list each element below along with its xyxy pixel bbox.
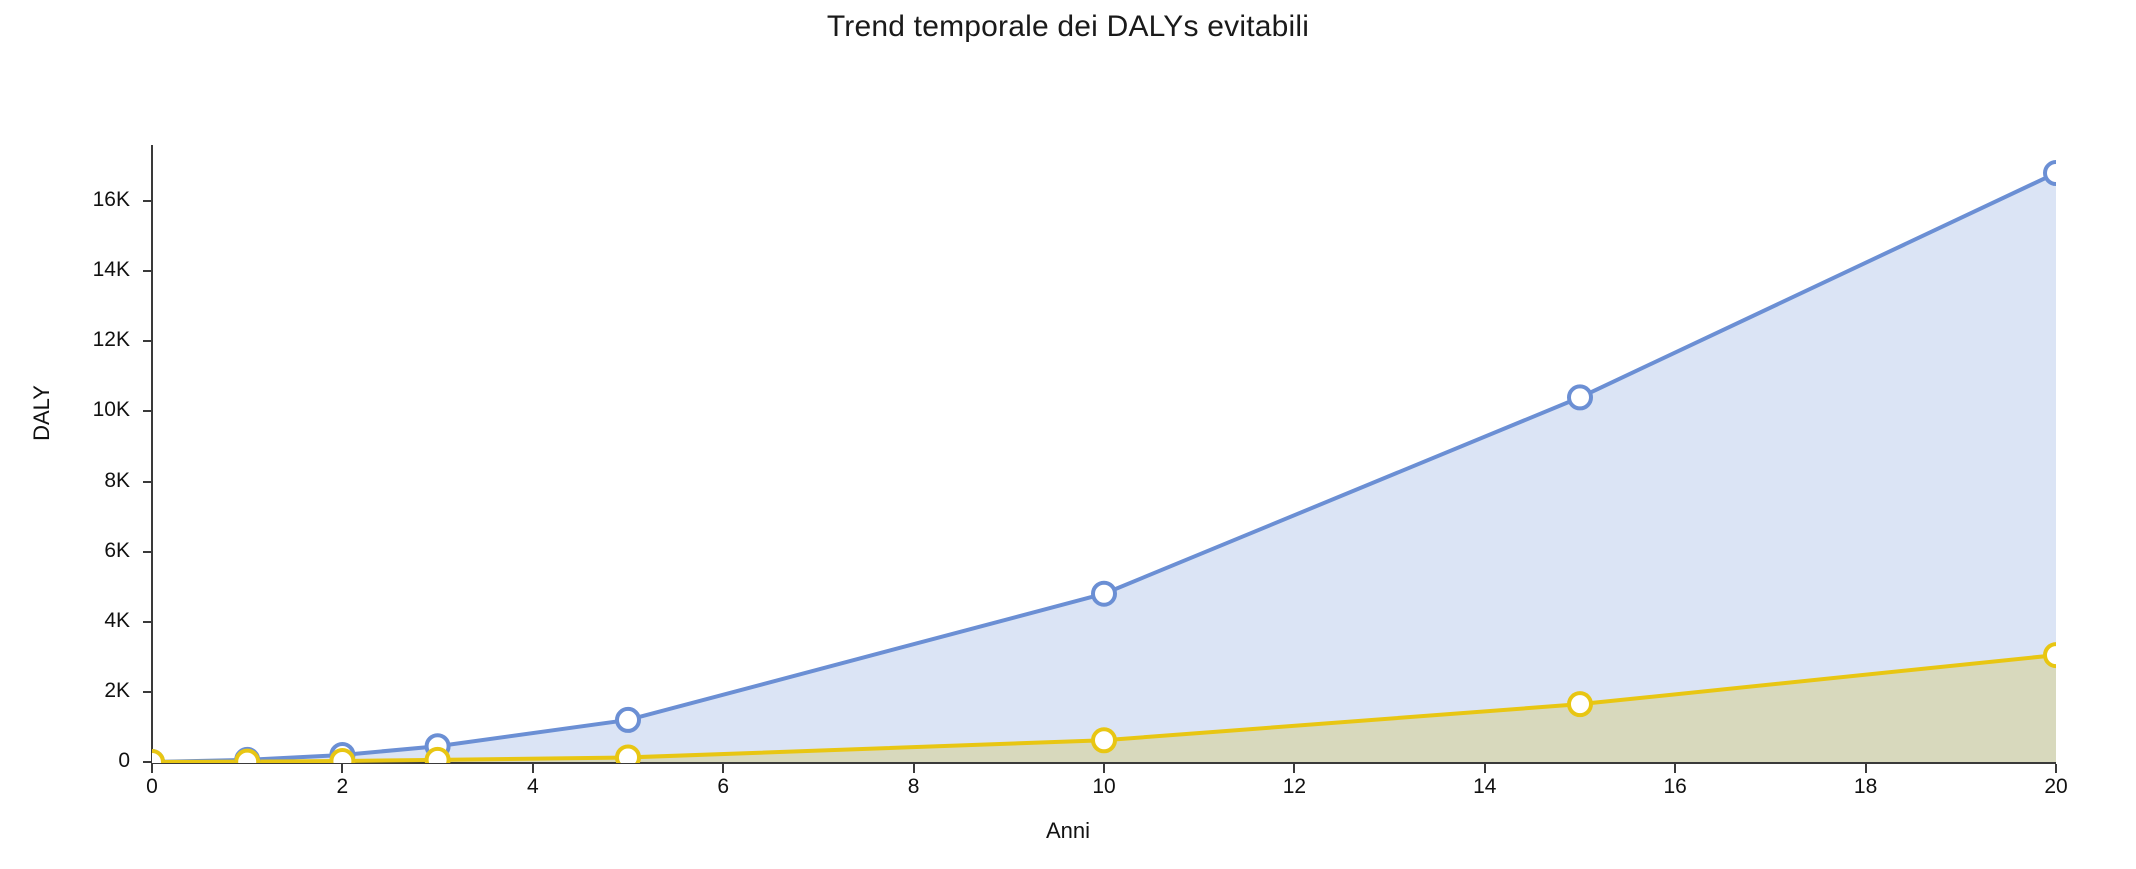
area-fills — [152, 173, 2056, 762]
x-tick-mark — [913, 764, 915, 773]
data-point-marker[interactable] — [617, 709, 639, 731]
x-tick-mark — [341, 764, 343, 773]
x-tick-mark — [1293, 764, 1295, 773]
data-point-marker[interactable] — [617, 746, 639, 763]
x-tick-mark — [1103, 764, 1105, 773]
x-tick-mark — [1865, 764, 1867, 773]
x-tick-label: 20 — [2016, 775, 2096, 799]
y-tick-mark — [143, 200, 152, 202]
y-tick-label: 16K — [50, 188, 130, 212]
area-fill — [152, 173, 2056, 762]
x-tick-label: 2 — [302, 775, 382, 799]
data-point-marker[interactable] — [1093, 583, 1115, 605]
y-tick-mark — [143, 621, 152, 623]
y-tick-label: 6K — [50, 539, 130, 563]
chart-container: Trend temporale dei DALYs evitabili 02K4… — [0, 0, 2136, 869]
plot-area — [152, 145, 2056, 763]
x-axis-title: Anni — [0, 818, 2136, 844]
y-tick-mark — [143, 481, 152, 483]
chart-title: Trend temporale dei DALYs evitabili — [0, 10, 2136, 44]
y-axis-title: DALY — [29, 353, 55, 473]
y-tick-mark — [143, 270, 152, 272]
y-tick-label: 10K — [50, 398, 130, 422]
data-point-marker[interactable] — [2045, 644, 2056, 666]
y-tick-label: 2K — [50, 679, 130, 703]
x-tick-label: 18 — [1826, 775, 1906, 799]
y-tick-label: 8K — [50, 469, 130, 493]
data-point-marker[interactable] — [152, 751, 163, 763]
y-tick-mark — [143, 340, 152, 342]
data-point-marker[interactable] — [1569, 386, 1591, 408]
x-tick-label: 10 — [1064, 775, 1144, 799]
series-canvas — [152, 145, 2056, 763]
x-tick-mark — [2055, 764, 2057, 773]
data-point-marker[interactable] — [236, 751, 258, 763]
x-tick-mark — [151, 764, 153, 773]
y-tick-mark — [143, 410, 152, 412]
y-tick-label: 12K — [50, 328, 130, 352]
x-tick-label: 4 — [493, 775, 573, 799]
x-tick-mark — [722, 764, 724, 773]
x-tick-label: 8 — [874, 775, 954, 799]
y-tick-label: 14K — [50, 258, 130, 282]
x-tick-label: 0 — [112, 775, 192, 799]
data-point-marker[interactable] — [331, 750, 353, 763]
y-tick-label: 4K — [50, 609, 130, 633]
x-tick-mark — [1674, 764, 1676, 773]
x-tick-mark — [532, 764, 534, 773]
data-point-marker[interactable] — [1093, 729, 1115, 751]
x-tick-label: 6 — [683, 775, 763, 799]
data-point-marker[interactable] — [427, 749, 449, 763]
y-tick-label: 0 — [50, 749, 130, 773]
x-tick-label: 14 — [1445, 775, 1525, 799]
y-tick-mark — [143, 691, 152, 693]
x-tick-label: 12 — [1254, 775, 1334, 799]
x-tick-label: 16 — [1635, 775, 1715, 799]
y-tick-mark — [143, 551, 152, 553]
data-point-marker[interactable] — [1569, 693, 1591, 715]
y-tick-mark — [143, 761, 152, 763]
data-point-marker[interactable] — [2045, 162, 2056, 184]
x-tick-mark — [1484, 764, 1486, 773]
